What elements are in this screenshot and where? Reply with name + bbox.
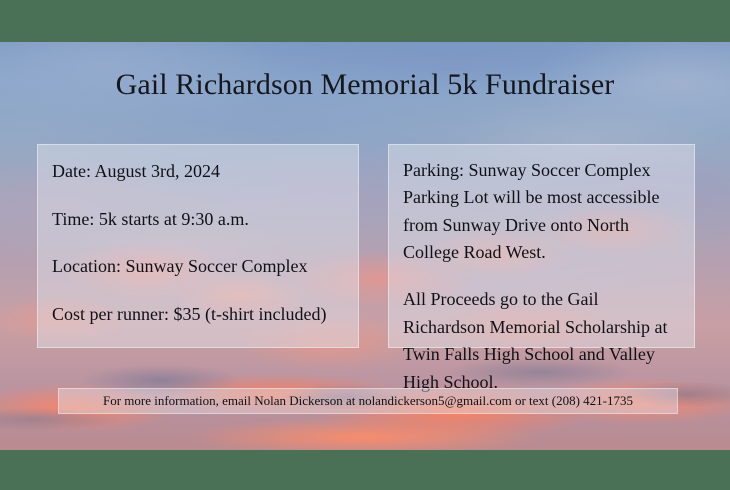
parking-paragraph: Parking: Sunway Soccer Complex Parking L… <box>403 157 680 266</box>
page-title: Gail Richardson Memorial 5k Fundraiser <box>0 68 730 102</box>
detail-time: Time: 5k starts at 9:30 a.m. <box>52 207 358 233</box>
detail-cost: Cost per runner: $35 (t-shirt included) <box>52 302 358 328</box>
detail-date: Date: August 3rd, 2024 <box>52 159 358 185</box>
bottom-green-band <box>0 450 730 490</box>
contact-footer-bar: For more information, email Nolan Dicker… <box>58 388 678 414</box>
proceeds-paragraph: All Proceeds go to the Gail Richardson M… <box>403 286 680 395</box>
top-green-band <box>0 0 730 42</box>
fundraiser-flyer: Gail Richardson Memorial 5k Fundraiser D… <box>0 0 730 490</box>
parking-and-proceeds-panel: Parking: Sunway Soccer Complex Parking L… <box>388 144 695 348</box>
contact-info-text: For more information, email Nolan Dicker… <box>103 393 633 409</box>
detail-location: Location: Sunway Soccer Complex <box>52 254 358 280</box>
event-details-panel: Date: August 3rd, 2024 Time: 5k starts a… <box>37 144 359 348</box>
